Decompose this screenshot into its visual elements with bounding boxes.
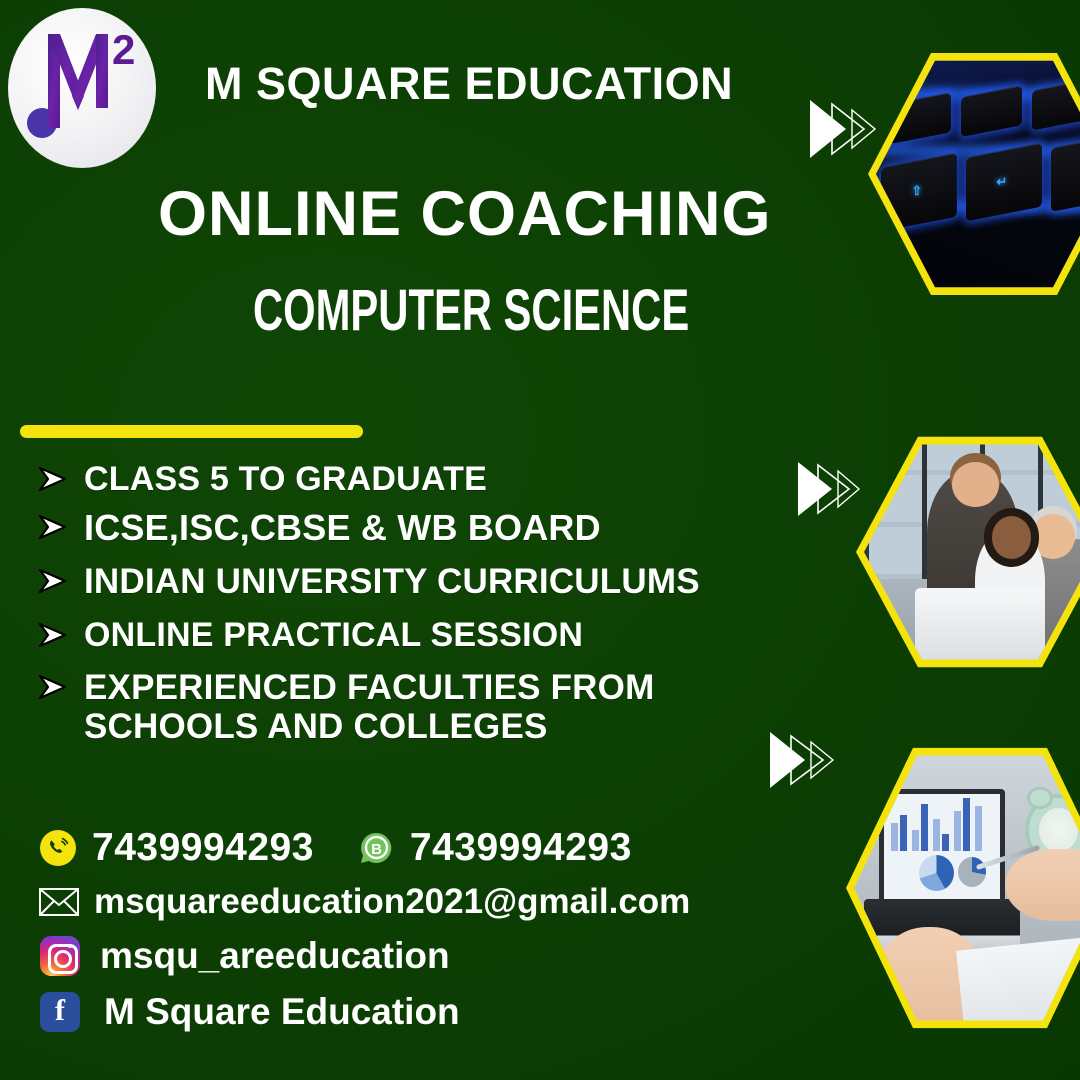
email-address: msquareeducation2021@gmail.com bbox=[94, 882, 690, 922]
whatsapp-business-icon: B bbox=[356, 828, 396, 868]
list-item-label: ONLINE PRACTICAL SESSION bbox=[84, 616, 583, 654]
desk-photo bbox=[854, 750, 1080, 1026]
photo-frame bbox=[864, 440, 1080, 664]
svg-text:2: 2 bbox=[112, 26, 135, 73]
keyboard-photo: ⇧ ↵ bbox=[876, 56, 1080, 292]
list-item-label: CLASS 5 TO GRADUATE bbox=[84, 460, 487, 498]
facebook-page-name: M Square Education bbox=[104, 991, 460, 1033]
team-photo bbox=[864, 440, 1080, 664]
subject-title: COMPUTER SCIENCE bbox=[253, 277, 689, 344]
yellow-divider bbox=[20, 425, 363, 438]
instagram-icon bbox=[38, 934, 82, 978]
list-item: INDIAN UNIVERSITY CURRICULUMS bbox=[36, 562, 796, 601]
whatsapp-number: 7439994293 bbox=[410, 826, 632, 870]
photo-frame: ⇧ ↵ bbox=[876, 56, 1080, 292]
list-item: ONLINE PRACTICAL SESSION bbox=[36, 616, 796, 654]
phone-contact[interactable]: 7439994293 bbox=[38, 826, 314, 870]
list-item: ICSE,ISC,CBSE & WB BOARD bbox=[36, 508, 796, 548]
photo-hexagon-desk bbox=[846, 742, 1080, 1034]
instagram-handle: msqu_areeducation bbox=[100, 935, 450, 977]
brand-title: M SQUARE EDUCATION bbox=[205, 58, 733, 110]
photo-hexagon-keyboard: ⇧ ↵ bbox=[868, 48, 1080, 300]
email-row[interactable]: msquareeducation2021@gmail.com bbox=[38, 882, 758, 922]
contact-block: 7439994293 B 7439994293 bbox=[38, 826, 758, 1046]
envelope-icon bbox=[38, 882, 80, 922]
photo-frame bbox=[854, 750, 1080, 1026]
poster-canvas: 2 M SQUARE EDUCATION ONLINE COACHING COM… bbox=[0, 0, 1080, 1080]
photo-hexagon-team bbox=[856, 432, 1080, 672]
facebook-icon: f bbox=[38, 990, 82, 1034]
list-item-label: INDIAN UNIVERSITY CURRICULUMS bbox=[84, 562, 700, 601]
brand-logo: 2 bbox=[8, 8, 156, 168]
list-item-label: EXPERIENCED FACULTIES FROM SCHOOLS AND C… bbox=[84, 668, 796, 746]
triple-arrow-icon bbox=[766, 728, 836, 792]
instagram-row[interactable]: msqu_areeducation bbox=[38, 934, 758, 978]
facebook-glyph: f bbox=[40, 992, 80, 1032]
arrowhead-bullet-icon bbox=[36, 460, 70, 498]
m-square-music-logo-icon: 2 bbox=[20, 22, 144, 154]
svg-text:B: B bbox=[371, 841, 382, 858]
facebook-row[interactable]: f M Square Education bbox=[38, 990, 758, 1034]
phone-number: 7439994293 bbox=[92, 826, 314, 870]
arrowhead-bullet-icon bbox=[36, 616, 70, 654]
feature-list: CLASS 5 TO GRADUATE ICSE,ISC,CBSE & WB B… bbox=[36, 460, 796, 758]
arrowhead-bullet-icon bbox=[36, 668, 70, 706]
list-item-label: ICSE,ISC,CBSE & WB BOARD bbox=[84, 508, 601, 548]
page-title: ONLINE COACHING bbox=[158, 178, 772, 250]
arrowhead-bullet-icon bbox=[36, 562, 70, 600]
list-item: EXPERIENCED FACULTIES FROM SCHOOLS AND C… bbox=[36, 668, 796, 746]
triple-arrow-icon bbox=[806, 96, 878, 162]
phone-row: 7439994293 B 7439994293 bbox=[38, 826, 758, 870]
phone-icon bbox=[38, 828, 78, 868]
list-item: CLASS 5 TO GRADUATE bbox=[36, 460, 796, 498]
whatsapp-contact[interactable]: B 7439994293 bbox=[356, 826, 632, 870]
triple-arrow-icon bbox=[794, 458, 862, 520]
arrowhead-bullet-icon bbox=[36, 508, 70, 546]
